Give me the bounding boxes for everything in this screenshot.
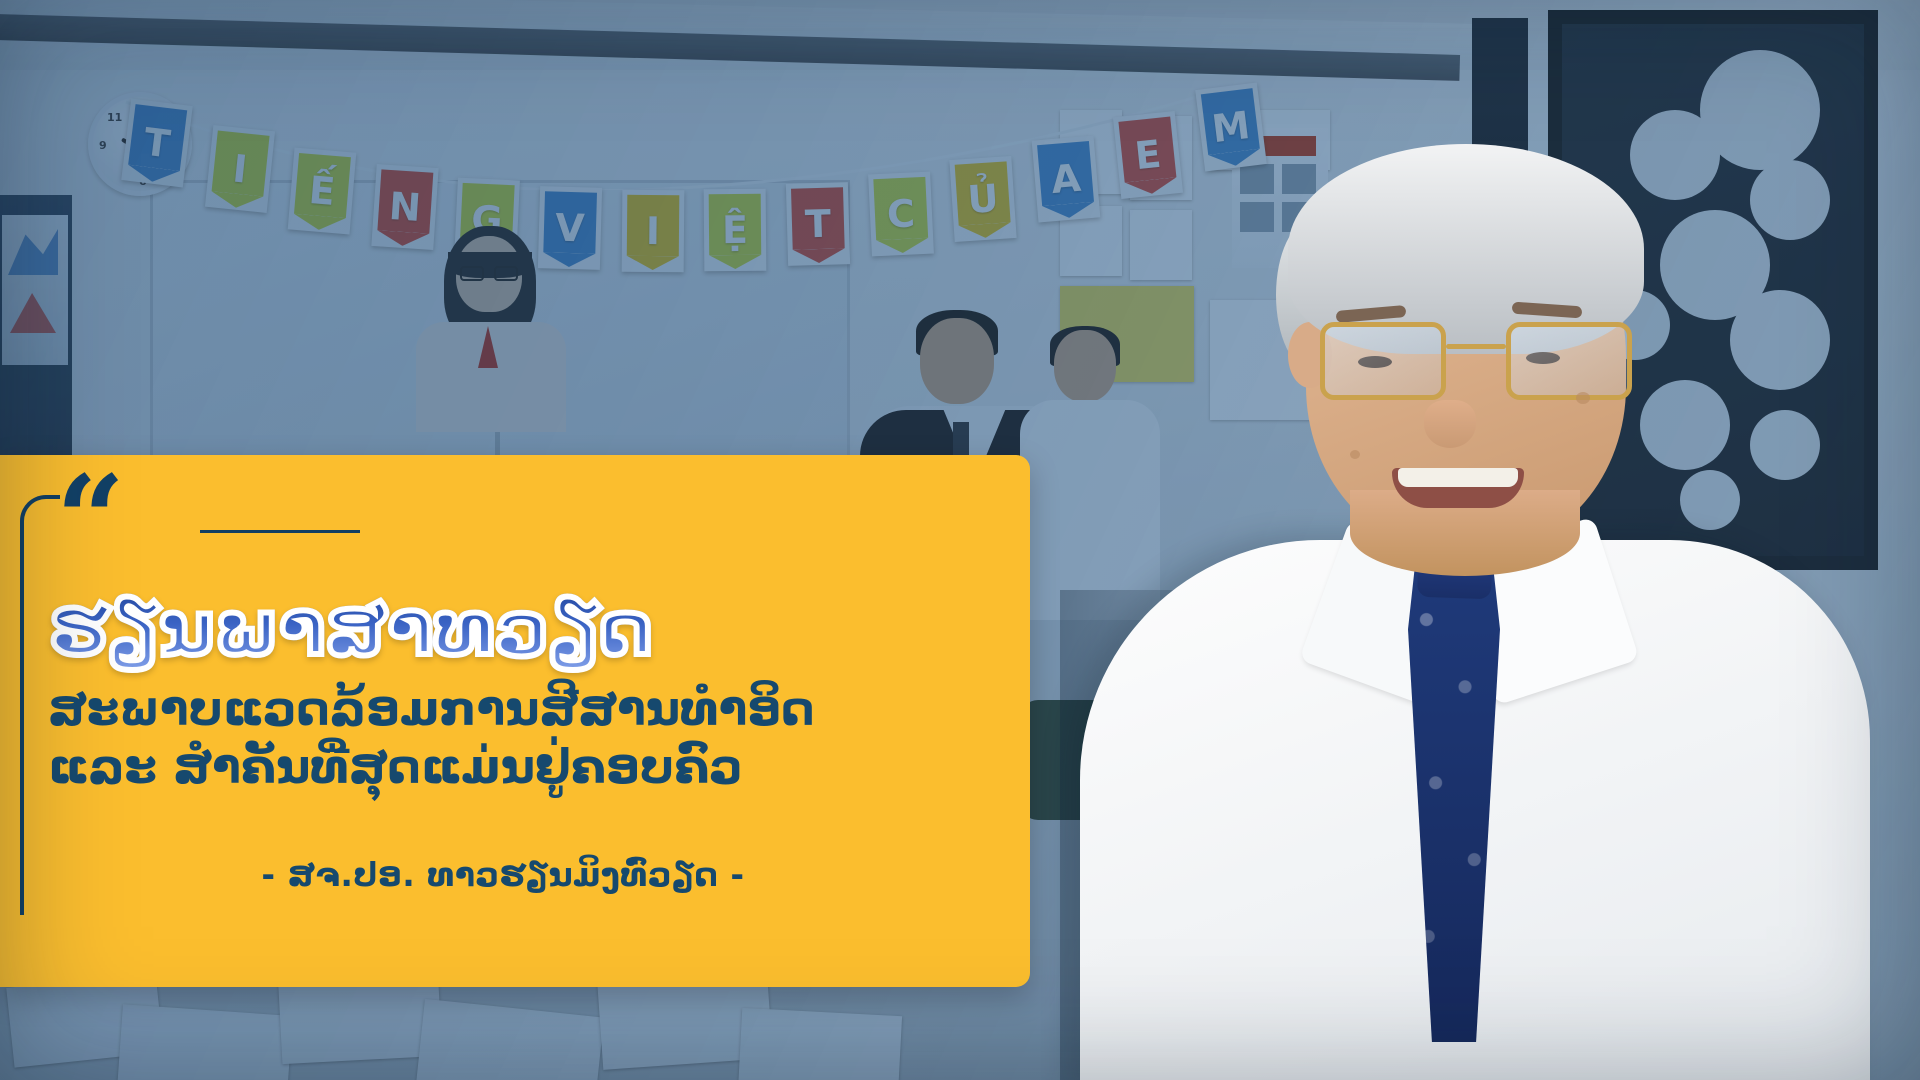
quote-subtitle-line-2: ແລະ ສຳຄັນທີ່ສຸດແມ່ນຢູ່ຄອບຄົວ (48, 739, 1008, 796)
quote-open-icon: “ (56, 477, 121, 563)
quote-headline: ຮຽນພາສາທວຽດ (50, 591, 980, 669)
subject-mole (1576, 392, 1590, 404)
subject-teeth (1398, 468, 1518, 487)
quote-subtitle-line-1: ສະພາບແວດລ້ອມການສີສານທຳອິດ (48, 681, 1008, 738)
subject-nose (1424, 400, 1476, 448)
quote-rule-divider (200, 530, 360, 533)
quote-card: “ ຮຽນພາສາທວຽດ ສະພາບແວດລ້ອມການສີສານທຳອິດ … (0, 455, 1030, 987)
subject-portrait (1020, 70, 1920, 1080)
subject-mole (1350, 450, 1360, 459)
quote-attribution: - ສຈ.ປອ. ທາວຮຽນມິງທົ່ວຽດ - (48, 855, 958, 894)
quote-card-graphic: 12 1 3 6 9 11 (0, 0, 1920, 1080)
subject-mouth (1392, 468, 1524, 508)
